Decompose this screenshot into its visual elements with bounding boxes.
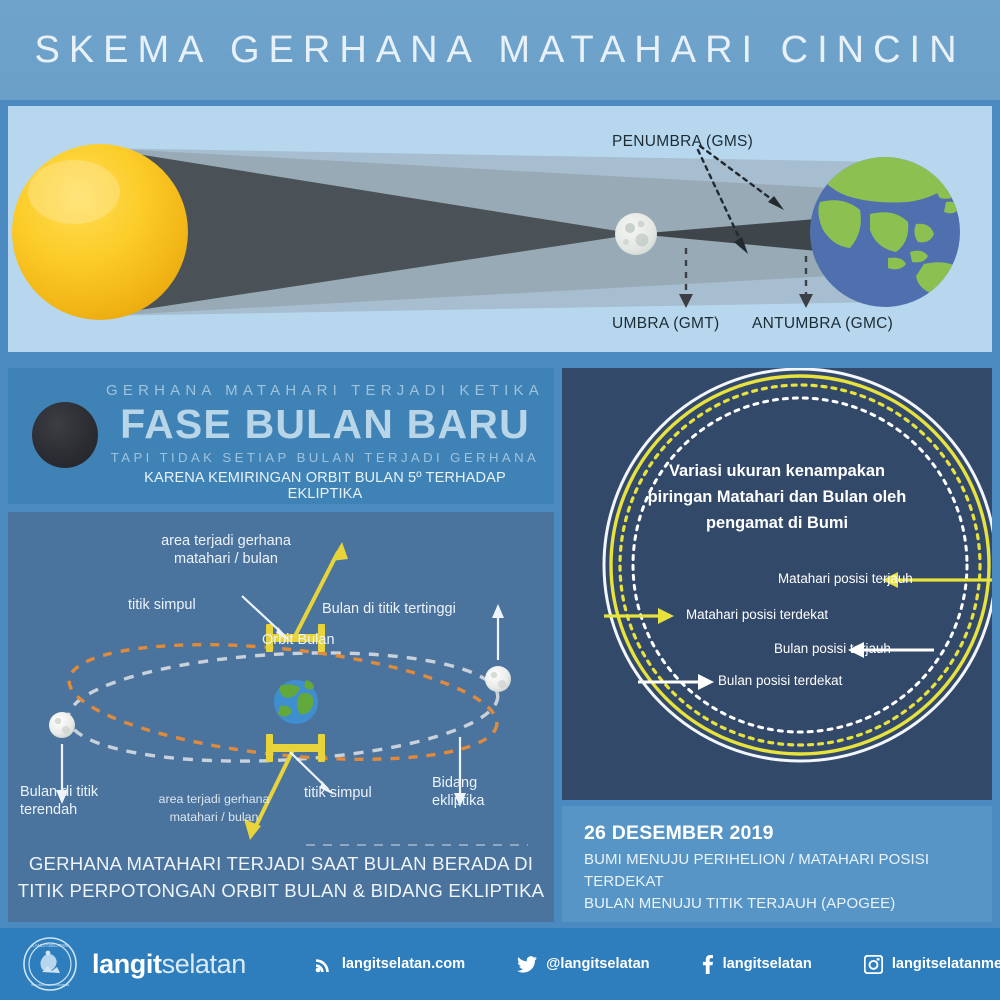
circle-sun-far-yellow-dotted <box>620 385 980 745</box>
label-ecliptic-plane-2: ekliptika <box>432 792 484 810</box>
orbit-footer-line-1: GERHANA MATAHARI TERJADI SAAT BULAN BERA… <box>8 850 554 877</box>
moon-lowest <box>49 712 75 738</box>
social-label-facebook: langitselatan <box>723 956 812 972</box>
svg-text:Ilmu Astronomi Indonesia: Ilmu Astronomi Indonesia <box>31 983 69 987</box>
new-moon-icon <box>32 402 98 468</box>
label-moon-nearest: Bulan posisi terdekat <box>718 673 842 688</box>
label-node-top: titik simpul <box>128 596 196 614</box>
ring-title-line-1: Variasi ukuran kenampakan <box>622 458 932 484</box>
footer-bar: LANGITSELATAN Ilmu Astronomi Indonesia l… <box>0 928 1000 1000</box>
brand-name-bold: langit <box>92 949 162 979</box>
earth-small <box>274 680 318 724</box>
banner-headline: FASE BULAN BARU <box>106 401 544 447</box>
twitter-icon <box>517 956 537 973</box>
svg-text:LANGITSELATAN: LANGITSELATAN <box>32 943 67 948</box>
moon-body <box>615 213 657 255</box>
label-node-bottom: titik simpul <box>304 784 372 802</box>
social-link-instagram[interactable]: langitselatanmedia <box>864 955 1000 974</box>
label-antumbra: ANTUMBRA (GMC) <box>752 315 893 333</box>
label-moon-highest: Bulan di titik tertinggi <box>322 600 456 618</box>
label-eclipse-area-top-1: area terjadi gerhana <box>136 532 316 550</box>
infographic-root: SKEMA GERHANA MATAHARI CINCIN <box>0 0 1000 1000</box>
label-moon-lowest-1: Bulan di titik <box>20 783 98 801</box>
social-link-twitter[interactable]: @langitselatan <box>517 956 649 973</box>
event-date: 26 DESEMBER 2019 <box>584 822 992 845</box>
new-moon-banner: GERHANA MATAHARI TERJADI KETIKA FASE BUL… <box>8 368 554 504</box>
banner-line-3: TAPI TIDAK SETIAP BULAN TERJADI GERHANA <box>106 450 544 465</box>
label-eclipse-area-bottom-1: area terjadi gerhana <box>134 790 294 808</box>
ring-title-line-3: pengamat di Bumi <box>622 510 932 536</box>
brand-name-light: selatan <box>162 949 246 979</box>
orbit-panel-footer: GERHANA MATAHARI TERJADI SAAT BULAN BERA… <box>8 850 554 904</box>
social-label-twitter: @langitselatan <box>546 956 649 972</box>
label-umbra: UMBRA (GMT) <box>612 315 720 333</box>
brand-wordmark: langitselatan <box>92 949 246 980</box>
label-eclipse-area-bottom-2: matahari / bulan <box>134 808 294 826</box>
ring-panel-title: Variasi ukuran kenampakan piringan Matah… <box>622 458 932 536</box>
orbit-nodes-diagram: area terjadi gerhana matahari / bulan ti… <box>8 512 554 922</box>
brand-block[interactable]: LANGITSELATAN Ilmu Astronomi Indonesia l… <box>22 936 246 992</box>
circle-sun-near-solid-white <box>604 369 992 761</box>
circle-sun-near-yellow <box>611 376 989 754</box>
label-moon-orbit: Orbit Bulan <box>262 631 335 649</box>
event-detail-line-2: BULAN MENUJU TITIK TERJAUH (APOGEE) <box>584 893 992 915</box>
social-label-website: langitselatan.com <box>342 956 465 972</box>
event-date-panel: 26 DESEMBER 2019 BUMI MENUJU PERIHELION … <box>562 806 992 922</box>
label-sun-nearest: Matahari posisi terdekat <box>686 607 828 622</box>
page-title: SKEMA GERHANA MATAHARI CINCIN <box>34 29 965 72</box>
banner-line-1: GERHANA MATAHARI TERJADI KETIKA <box>106 382 544 399</box>
disc-size-variation-diagram: Variasi ukuran kenampakan piringan Matah… <box>562 368 992 800</box>
instagram-icon <box>864 955 883 974</box>
moon-highest <box>485 666 511 692</box>
social-link-facebook[interactable]: langitselatan <box>702 955 812 974</box>
label-ecliptic-plane-1: Bidang <box>432 774 484 792</box>
label-sun-farthest: Matahari posisi terjauh <box>778 571 913 586</box>
facebook-icon <box>702 955 714 974</box>
label-eclipse-area-top-2: matahari / bulan <box>136 550 316 568</box>
header-bar: SKEMA GERHANA MATAHARI CINCIN <box>0 0 1000 100</box>
social-label-instagram: langitselatanmedia <box>892 956 1000 972</box>
ring-title-line-2: piringan Matahari dan Bulan oleh <box>622 484 932 510</box>
orbit-footer-line-2: TITIK PERPOTONGAN ORBIT BULAN & BIDANG E… <box>8 877 554 904</box>
social-link-website[interactable]: langitselatan.com <box>314 955 465 974</box>
banner-line-4: KARENA KEMIRINGAN ORBIT BULAN 5º TERHADA… <box>106 470 544 502</box>
langitselatan-seal-logo: LANGITSELATAN Ilmu Astronomi Indonesia <box>22 936 78 992</box>
social-links: langitselatan.com @langitselatan langits… <box>314 955 1000 974</box>
event-detail-line-1: BUMI MENUJU PERIHELION / MATAHARI POSISI… <box>584 849 992 893</box>
rss-icon <box>314 955 333 974</box>
concentric-disc-circles <box>604 369 992 761</box>
label-penumbra: PENUMBRA (GMS) <box>612 133 753 151</box>
label-moon-lowest-2: terendah <box>20 801 98 819</box>
label-moon-farthest: Bulan posisi terjauh <box>774 641 891 656</box>
